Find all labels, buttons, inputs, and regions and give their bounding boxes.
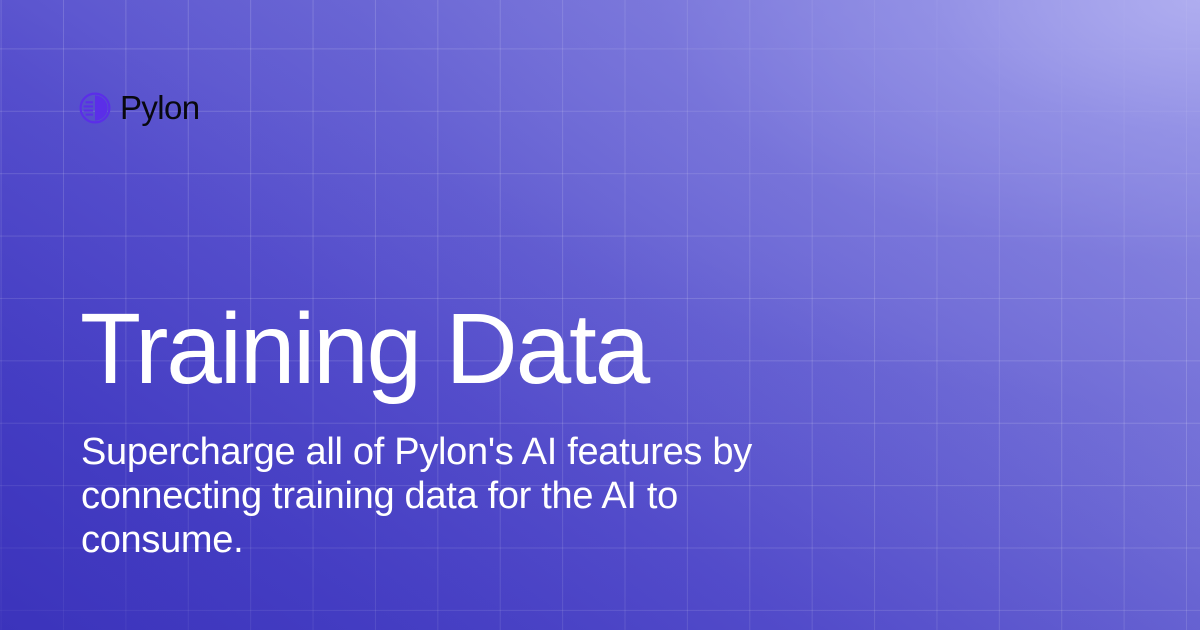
brand-lockup: Pylon <box>79 91 200 124</box>
social-share-card: Pylon Training Data Supercharge all of P… <box>0 0 1200 630</box>
page-title: Training Data <box>80 299 648 399</box>
page-subtitle: Supercharge all of Pylon's AI features b… <box>81 430 811 562</box>
pylon-circle-mark-icon <box>79 92 111 124</box>
brand-wordmark: Pylon <box>120 91 200 124</box>
